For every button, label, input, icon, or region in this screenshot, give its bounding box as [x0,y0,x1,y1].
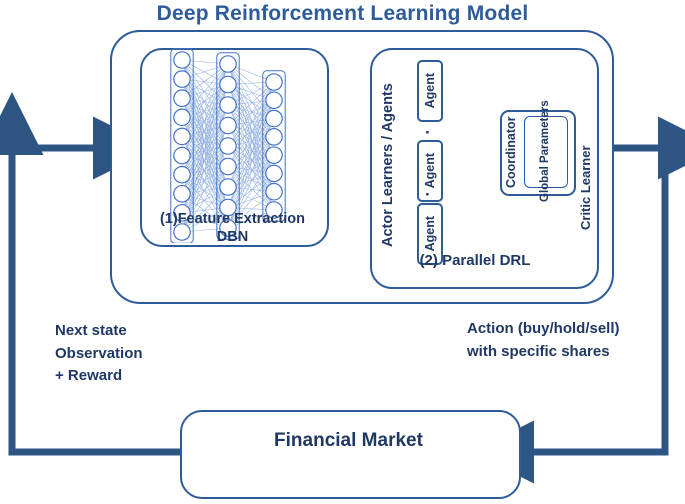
agent-label-3: Agent [423,216,437,251]
financial-market-label: Financial Market [180,430,517,452]
agent-box-1[interactable]: Agent [417,60,443,122]
parallel-drl-caption: (2) Parallel DRL [370,252,580,269]
feedback-label-line2: Observation [55,343,143,366]
dbn-caption-line2: DBN [140,228,325,246]
dbn-caption-line1: (1)Feature Extraction [140,210,325,228]
feedback-label-line1: Next state [55,320,143,343]
agent-label-1: Agent [423,73,437,108]
action-label-line2: with specific shares [467,341,620,364]
global-parameters-label: Global Parameters [526,118,564,184]
feedback-label-group: Next state Observation + Reward [55,320,143,388]
action-label-group: Action (buy/hold/sell) with specific sha… [467,318,620,363]
action-label-line1: Action (buy/hold/sell) [467,318,620,341]
coordinator-label: Coordinator [504,114,518,188]
agent-label-2: Agent [423,153,437,188]
financial-market-box [180,410,521,499]
actor-learners-agents-label: Actor Learners / Agents [380,62,396,247]
page-title: Deep Reinforcement Learning Model [0,2,685,26]
dbn-caption: (1)Feature Extraction DBN [140,210,325,246]
critic-learner-label: Critic Learner [578,110,593,230]
feedback-label-line3: + Reward [55,365,143,388]
